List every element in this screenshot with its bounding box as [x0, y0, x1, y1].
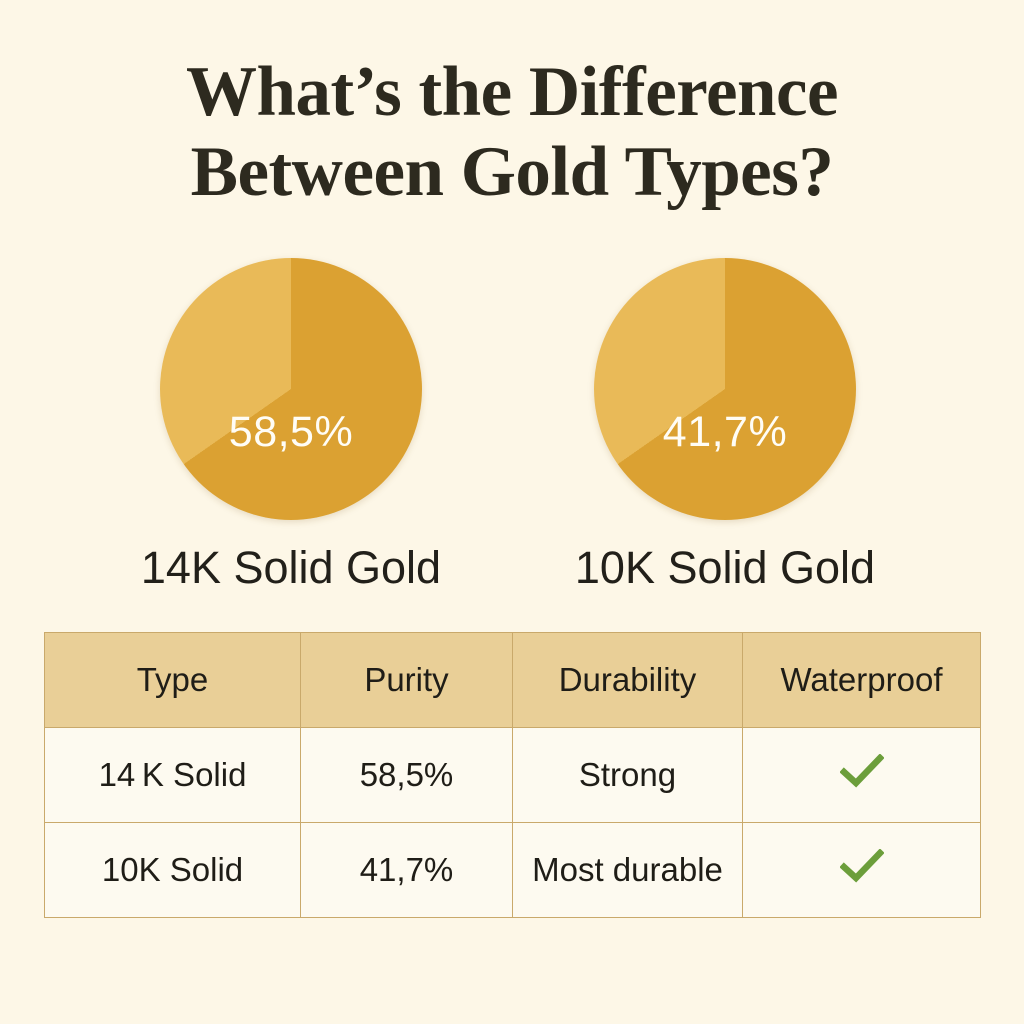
cell-waterproof [743, 728, 981, 823]
table-header-row: Type Purity Durability Waterproof [45, 633, 981, 728]
pie-chart-10k-graphic [594, 258, 856, 520]
cell-waterproof [743, 823, 981, 918]
table-header-type: Type [45, 633, 301, 728]
pie-chart-10k-value: 41,7% [594, 408, 856, 457]
chart-unit-14k: 58,5% 14K Solid Gold [126, 258, 456, 528]
table-body: 14 K Solid 58,5% Strong 10K Solid 41,7% [45, 728, 981, 918]
table-header-waterproof: Waterproof [743, 633, 981, 728]
chart-unit-10k: 41,7% 10K Solid Gold [560, 258, 890, 528]
pie-chart-14k-graphic [160, 258, 422, 520]
pie-chart-10k: 41,7% [594, 258, 856, 520]
comparison-table-wrapper: Type Purity Durability Waterproof 14 K S… [44, 632, 980, 918]
cell-purity: 58,5% [301, 728, 513, 823]
table-header: Type Purity Durability Waterproof [45, 633, 981, 728]
table-row: 14 K Solid 58,5% Strong [45, 728, 981, 823]
pie-chart-14k-value: 58,5% [160, 408, 422, 457]
check-icon [840, 849, 884, 883]
comparison-table: Type Purity Durability Waterproof 14 K S… [44, 632, 981, 918]
pie-chart-14k-caption: 14K Solid Gold [86, 542, 496, 594]
cell-durability: Most durable [513, 823, 743, 918]
cell-durability: Strong [513, 728, 743, 823]
cell-type: 10K Solid [45, 823, 301, 918]
page-title-line-1: What’s the Difference [0, 52, 1024, 132]
page-title: What’s the Difference Between Gold Types… [0, 52, 1024, 212]
page-title-line-2: Between Gold Types? [0, 132, 1024, 212]
check-icon [840, 754, 884, 788]
table-row: 10K Solid 41,7% Most durable [45, 823, 981, 918]
pie-chart-14k: 58,5% [160, 258, 422, 520]
gold-types-infographic: What’s the Difference Between Gold Types… [0, 0, 1024, 1024]
cell-purity: 41,7% [301, 823, 513, 918]
table-header-purity: Purity [301, 633, 513, 728]
cell-type: 14 K Solid [45, 728, 301, 823]
table-header-durability: Durability [513, 633, 743, 728]
pie-chart-10k-caption: 10K Solid Gold [520, 542, 930, 594]
pie-charts-row: 58,5% 14K Solid Gold 41,7% 10K Solid Gol… [0, 258, 1024, 528]
